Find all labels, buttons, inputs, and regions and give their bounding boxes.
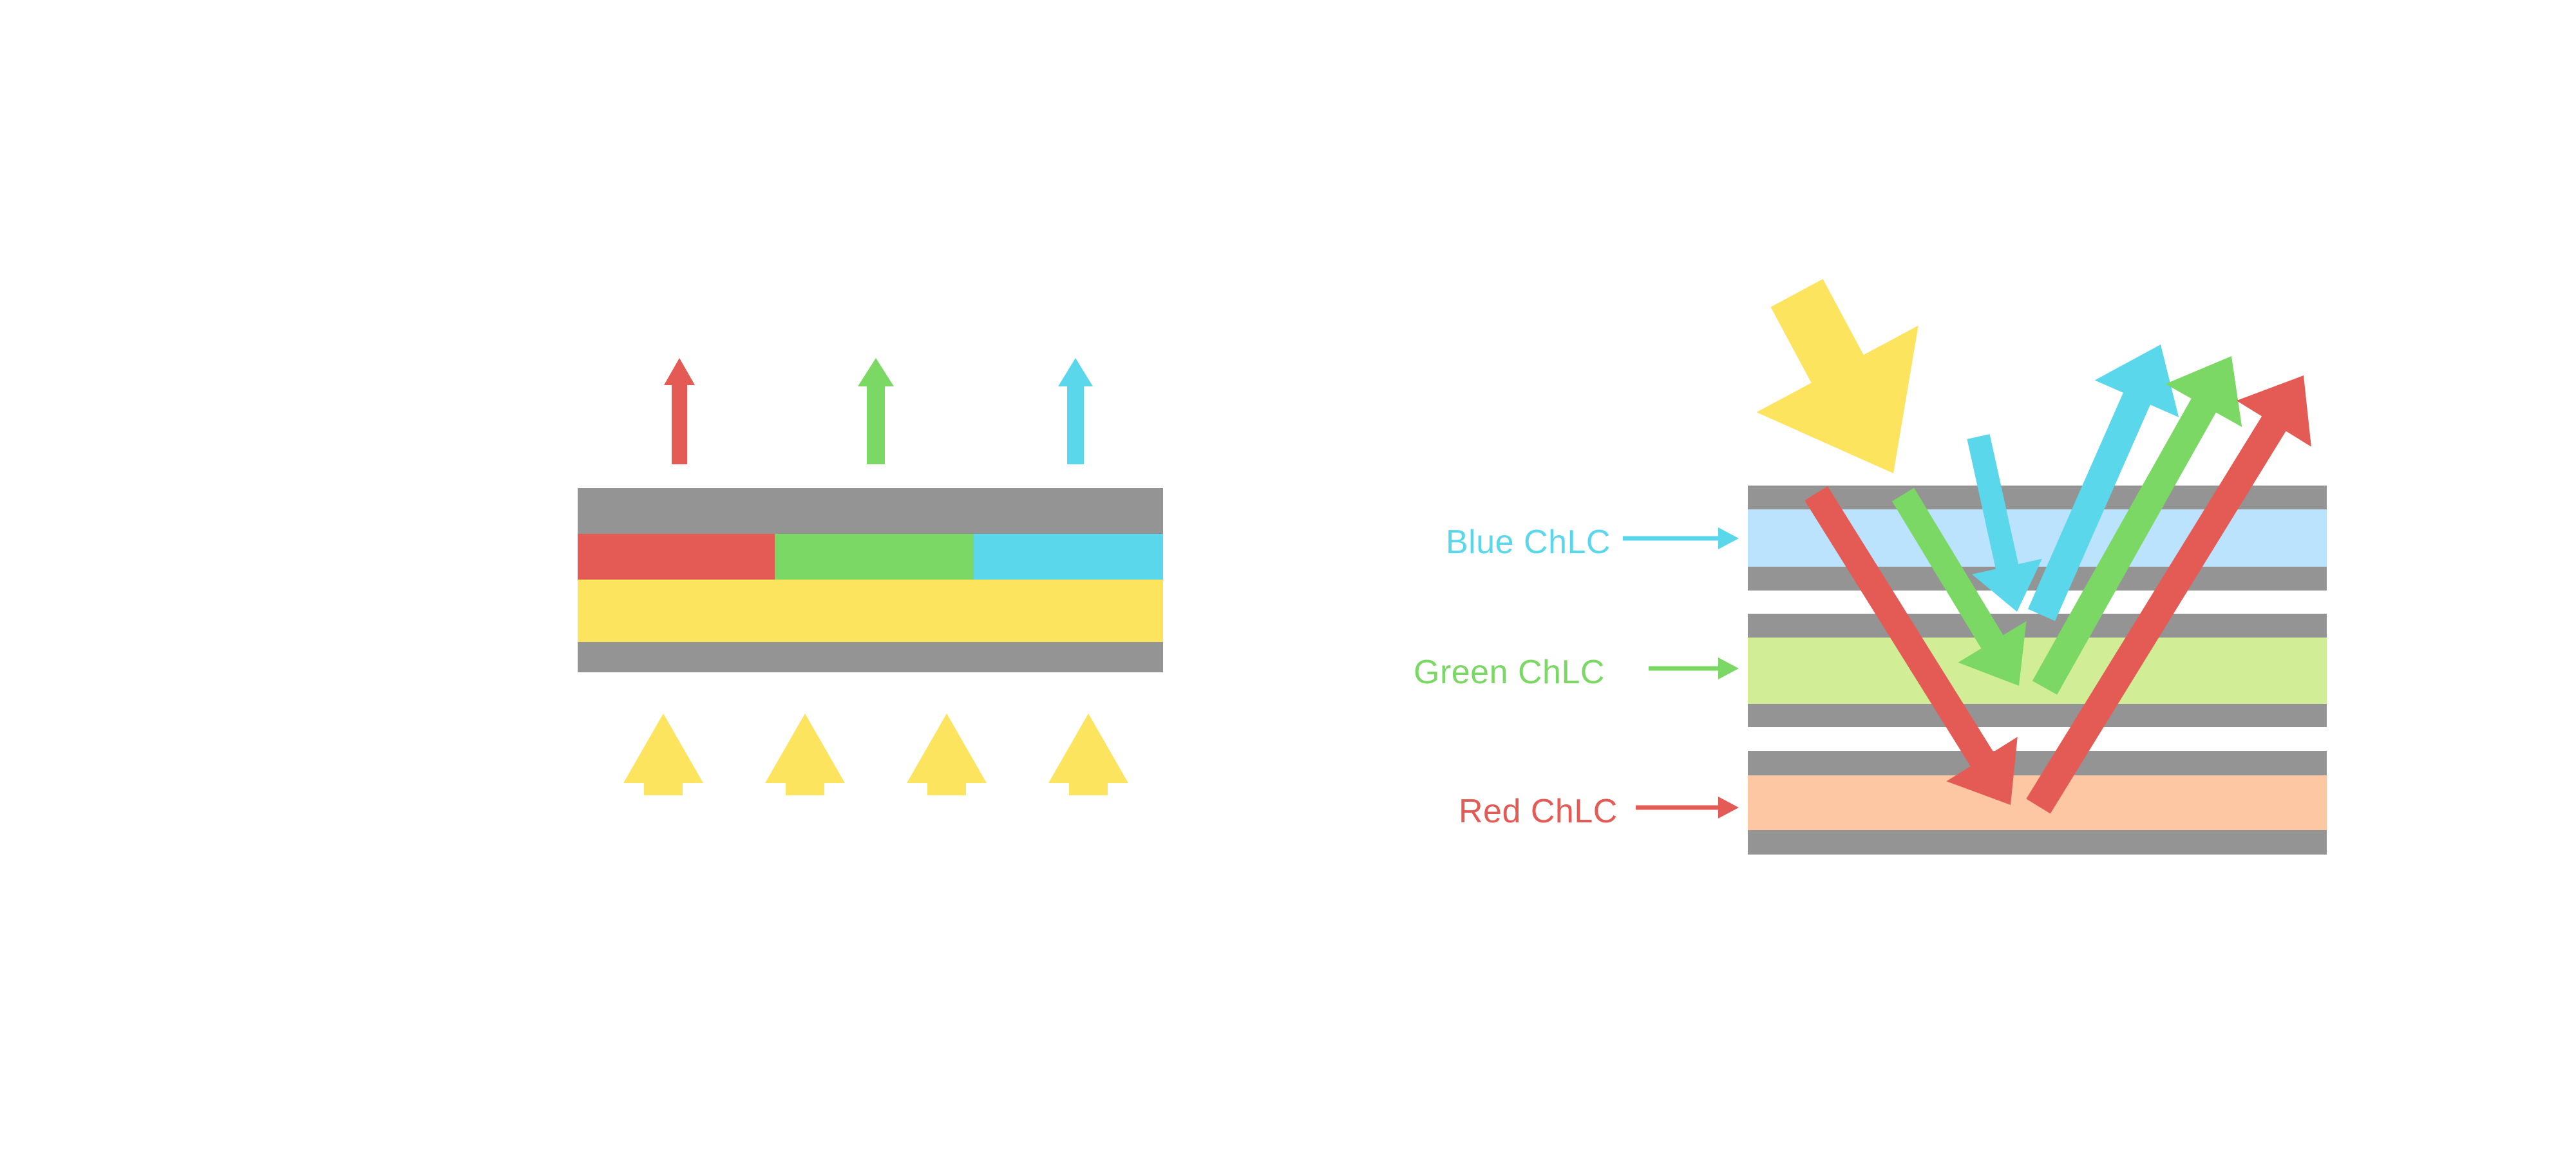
label-green-chlc-leader-arrowhead	[1718, 657, 1739, 679]
diagram-canvas: Blue ChLCGreen ChLCRed ChLC	[0, 0, 2576, 1154]
band-blue-bottom-electrode	[1748, 567, 2327, 591]
label-green-chlc: Green ChLC	[1414, 653, 1605, 692]
band-red-top-electrode	[1748, 751, 2327, 775]
right-panel-graphics	[0, 0, 2576, 1154]
label-blue-chlc: Blue ChLC	[1446, 523, 1611, 562]
ambient-light-arrow-icon	[1756, 279, 1918, 473]
label-red-chlc-leader-arrowhead	[1718, 797, 1739, 818]
label-blue-chlc-leader-arrowhead	[1718, 527, 1739, 549]
label-leader-lines	[1623, 527, 1739, 818]
label-red-chlc: Red ChLC	[1459, 792, 1618, 831]
band-green-bottom-electrode	[1748, 704, 2327, 727]
band-green-chlc-layer	[1748, 638, 2327, 704]
band-red-bottom-electrode	[1748, 830, 2327, 855]
band-green-top-electrode	[1748, 614, 2327, 638]
